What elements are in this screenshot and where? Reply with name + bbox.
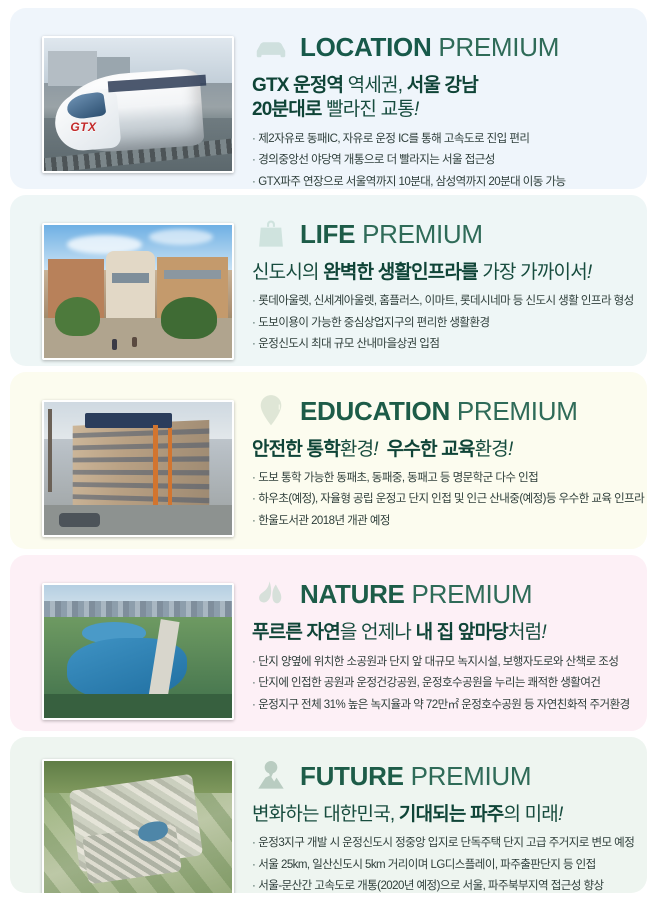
card-future: FUTURE PREMIUM 변화하는 대한민국, 기대되는 파주의 미래! ·… (10, 737, 647, 893)
bullet-item: ·GTX파주 연장으로 서울역까지 10분대, 삼성역까지 20분대 이동 가능 (252, 175, 635, 189)
location-photo: GTX (42, 36, 234, 173)
life-title-strong: LIFE (300, 219, 355, 249)
life-title: LIFE PREMIUM (300, 221, 483, 247)
car-icon (252, 27, 290, 67)
nature-content: NATURE PREMIUM 푸르른 자연을 언제나 내 집 앞마당처럼! ·단… (234, 567, 635, 719)
education-content: EDUCATION PREMIUM 안전한 통학환경! 우수한 교육환경! ·도… (234, 384, 635, 536)
bullet-text: 하우초(예정), 자율형 공립 운정고 단지 인접 및 인근 산내중(예정)등 … (258, 493, 644, 505)
bullet-item: ·단지에 인접한 공원과 운정건강공원, 운정호수공원을 누리는 쾌적한 생활여… (252, 676, 635, 692)
location-content: LOCATION PREMIUM GTX 운정역 역세권, 서울 강남20분대로… (234, 20, 635, 189)
location-title-strong: LOCATION (300, 32, 431, 62)
life-content: LIFE PREMIUM 신도시의 완벽한 생활인프라를 가장 가까이서! ·롯… (234, 207, 635, 359)
card-nature: NATURE PREMIUM 푸르른 자연을 언제나 내 집 앞마당처럼! ·단… (10, 555, 647, 731)
future-title-light: PREMIUM (411, 761, 532, 791)
map-pin-mountain-icon (252, 756, 290, 796)
bullet-text: 단지 양옆에 위치한 소공원과 단지 앞 대규모 녹지시설, 보행자도로와 산책… (258, 656, 618, 668)
bullet-item: ·운정3지구 개발 시 운정신도시 정중앙 입지로 단독주택 단지 고급 주거지… (252, 836, 635, 852)
bullet-text: 운정지구 전체 31% 높은 녹지율과 약 72만㎡ 운정호수공원 등 자연친화… (258, 699, 629, 711)
nature-photo (42, 583, 234, 720)
bullet-item: ·제2자유로 동패IC, 자유로 운정 IC를 통해 고속도로 진입 편리 (252, 132, 635, 148)
bullet-text: 운정신도시 최대 규모 산내마을상권 입점 (258, 338, 439, 350)
bullet-text: GTX파주 연장으로 서울역까지 10분대, 삼성역까지 20분대 이동 가능 (258, 176, 565, 188)
education-title: EDUCATION PREMIUM (300, 398, 578, 424)
bullet-item: ·한울도서관 2018년 개관 예정 (252, 514, 635, 530)
life-bullets: ·롯데아울렛, 신세계아울렛, 홈플러스, 이마트, 롯데시네마 등 신도시 생… (252, 294, 635, 353)
education-title-light: PREMIUM (457, 396, 578, 426)
location-title-row: LOCATION PREMIUM (252, 26, 635, 68)
nature-title-light: PREMIUM (412, 579, 533, 609)
bullet-item: ·단지 양옆에 위치한 소공원과 단지 앞 대규모 녹지시설, 보행자도로와 산… (252, 655, 635, 671)
location-bullets: ·제2자유로 동패IC, 자유로 운정 IC를 통해 고속도로 진입 편리 ·경… (252, 132, 635, 189)
life-title-light: PREMIUM (362, 219, 483, 249)
bullet-item: ·운정신도시 최대 규모 산내마을상권 입점 (252, 337, 635, 353)
graduation-cap-pin-icon (252, 391, 290, 431)
bullet-text: 도보이용이 가능한 중심상업지구의 편리한 생활환경 (258, 317, 489, 329)
location-title: LOCATION PREMIUM (300, 34, 559, 60)
life-photo (42, 223, 234, 360)
future-headline: 변화하는 대한민국, 기대되는 파주의 미래! (252, 803, 635, 827)
life-headline: 신도시의 완벽한 생활인프라를 가장 가까이서! (252, 261, 635, 285)
nature-title-row: NATURE PREMIUM (252, 573, 635, 615)
future-bullets: ·운정3지구 개발 시 운정신도시 정중앙 입지로 단독주택 단지 고급 주거지… (252, 836, 635, 893)
location-title-light: PREMIUM (438, 32, 559, 62)
premium-feature-list: GTX LOCATION PREMIUM GTX 운정역 역세권, 서울 강남2… (0, 0, 657, 901)
shopping-bag-heart-icon (252, 214, 290, 254)
nature-title: NATURE PREMIUM (300, 581, 532, 607)
bullet-text: 도보 통학 가능한 동패초, 동패중, 동패고 등 명문학군 다수 인접 (258, 472, 538, 484)
education-photo (42, 400, 234, 537)
gtx-logo-text: GTX (70, 120, 96, 134)
life-title-row: LIFE PREMIUM (252, 213, 635, 255)
bullet-text: 서울-문산간 고속도로 개통(2020년 예정)으로 서울, 파주북부지역 접근… (258, 880, 603, 892)
future-title-strong: FUTURE (300, 761, 404, 791)
bullet-item: ·도보 통학 가능한 동패초, 동패중, 동패고 등 명문학군 다수 인접 (252, 471, 635, 487)
education-title-strong: EDUCATION (300, 396, 450, 426)
bullet-text: 롯데아울렛, 신세계아울렛, 홈플러스, 이마트, 롯데시네마 등 신도시 생활… (258, 295, 633, 307)
education-headline: 안전한 통학환경! 우수한 교육환경! (252, 438, 635, 462)
education-bullets: ·도보 통학 가능한 동패초, 동패중, 동패고 등 명문학군 다수 인접 ·하… (252, 471, 635, 530)
bullet-item: ·운정지구 전체 31% 높은 녹지율과 약 72만㎡ 운정호수공원 등 자연친… (252, 698, 635, 714)
bullet-item: ·경의중앙선 야당역 개통으로 더 빨라지는 서울 접근성 (252, 153, 635, 169)
bullet-text: 운정3지구 개발 시 운정신도시 정중앙 입지로 단독주택 단지 고급 주거지로… (258, 837, 634, 849)
bullet-item: ·도보이용이 가능한 중심상업지구의 편리한 생활환경 (252, 316, 635, 332)
nature-headline: 푸르른 자연을 언제나 내 집 앞마당처럼! (252, 621, 635, 645)
bullet-item: ·서울 25km, 일산신도시 5km 거리이며 LG디스플레이, 파주출판단지… (252, 858, 635, 874)
future-photo (42, 759, 234, 893)
nature-bullets: ·단지 양옆에 위치한 소공원과 단지 앞 대규모 녹지시설, 보행자도로와 산… (252, 655, 635, 714)
bullet-text: 단지에 인접한 공원과 운정건강공원, 운정호수공원을 누리는 쾌적한 생활여건 (258, 677, 600, 689)
nature-title-strong: NATURE (300, 579, 405, 609)
bullet-item: ·롯데아울렛, 신세계아울렛, 홈플러스, 이마트, 롯데시네마 등 신도시 생… (252, 294, 635, 310)
future-title: FUTURE PREMIUM (300, 763, 531, 789)
location-headline: GTX 운정역 역세권, 서울 강남20분대로 빨라진 교통! (252, 74, 635, 123)
education-title-row: EDUCATION PREMIUM (252, 390, 635, 432)
card-education: EDUCATION PREMIUM 안전한 통학환경! 우수한 교육환경! ·도… (10, 372, 647, 550)
bullet-item: ·서울-문산간 고속도로 개통(2020년 예정)으로 서울, 파주북부지역 접… (252, 879, 635, 893)
bullet-item: ·하우초(예정), 자율형 공립 운정고 단지 인접 및 인근 산내중(예정)등… (252, 492, 635, 508)
bullet-text: 서울 25km, 일산신도시 5km 거리이며 LG디스플레이, 파주출판단지 … (258, 859, 595, 871)
leaf-icon (252, 574, 290, 614)
future-content: FUTURE PREMIUM 변화하는 대한민국, 기대되는 파주의 미래! ·… (234, 749, 635, 893)
bullet-text: 한울도서관 2018년 개관 예정 (258, 515, 390, 527)
future-title-row: FUTURE PREMIUM (252, 755, 635, 797)
bullet-text: 제2자유로 동패IC, 자유로 운정 IC를 통해 고속도로 진입 편리 (258, 133, 529, 145)
card-location: GTX LOCATION PREMIUM GTX 운정역 역세권, 서울 강남2… (10, 8, 647, 189)
card-life: LIFE PREMIUM 신도시의 완벽한 생활인프라를 가장 가까이서! ·롯… (10, 195, 647, 366)
bullet-text: 경의중앙선 야당역 개통으로 더 빨라지는 서울 접근성 (258, 154, 495, 166)
